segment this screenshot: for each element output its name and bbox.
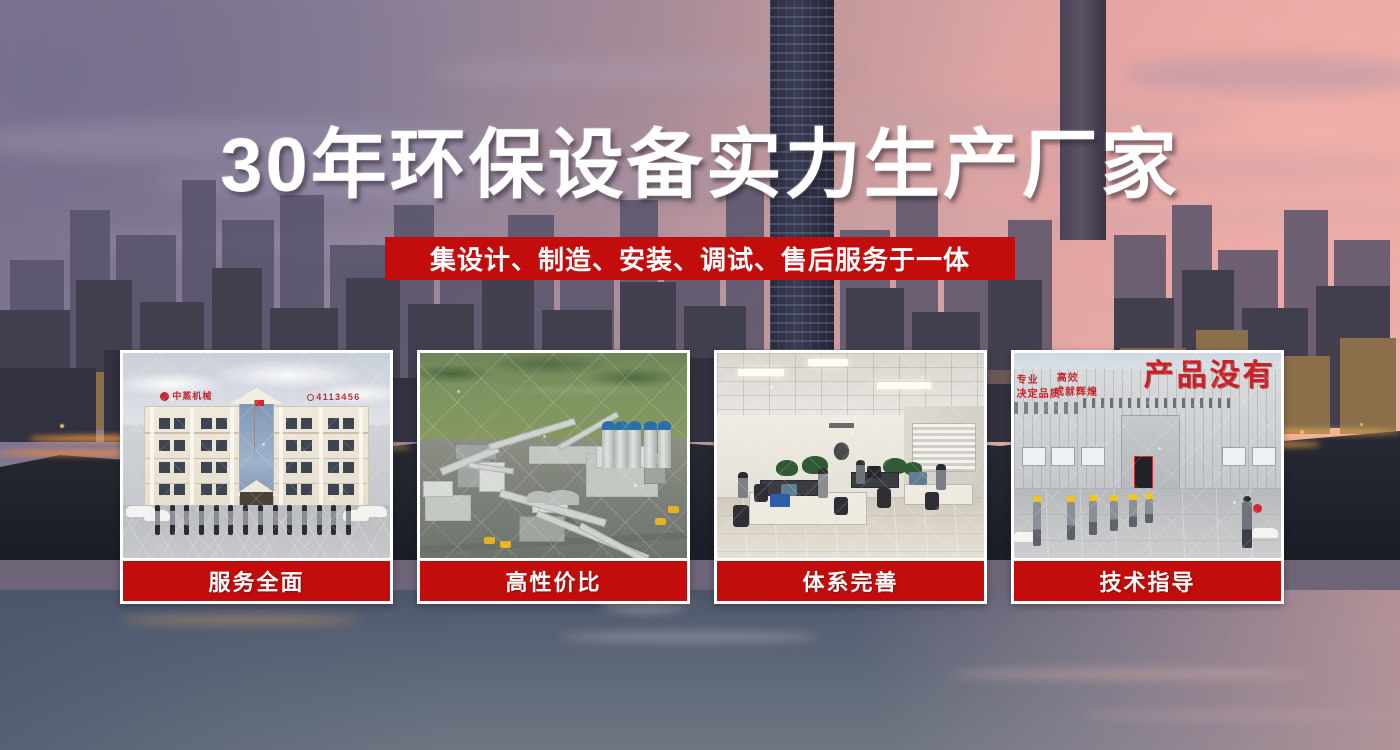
card-caption-text: 服务全面 <box>208 565 304 597</box>
excavator <box>500 541 511 548</box>
wall-slogan-small: 成就辉煌 <box>1054 388 1098 399</box>
excavator <box>655 518 666 525</box>
water-reflection <box>1080 710 1400 720</box>
office-interior-photo <box>717 353 984 558</box>
card-caption-text: 体系完善 <box>802 565 898 597</box>
rooftop-company-sign: 中蒸机械 <box>160 392 212 401</box>
card-caption-text: 技术指导 <box>1099 565 1195 597</box>
wall-slogan-small: 高效 <box>1057 374 1079 385</box>
water-reflection <box>560 632 820 642</box>
card-caption-text: 高性价比 <box>505 565 601 597</box>
card-caption: 服务全面 <box>123 561 390 601</box>
water-reflection <box>950 668 1310 680</box>
wall-slogan-small: 专业 <box>1017 376 1039 387</box>
rooftop-sign-text: 中蒸机械 <box>172 392 212 401</box>
page-title: 30年环保设备实力生产厂家 <box>0 128 1400 204</box>
hero-banner: 30年环保设备实力生产厂家 集设计、制造、安装、调试、售后服务于一体 <box>0 0 1400 750</box>
card-caption: 高性价比 <box>420 561 687 601</box>
feature-card[interactable]: 专业 决定品质 高效 成就辉煌 产品没有 <box>1011 350 1284 604</box>
company-logo-icon <box>160 392 169 401</box>
card-caption: 体系完善 <box>717 561 984 601</box>
feature-card-row: 中蒸机械 4113456 <box>120 350 1284 604</box>
excavator <box>668 506 679 513</box>
water-reflection <box>120 616 360 624</box>
rooftop-phone-text: 4113456 <box>316 393 360 402</box>
workshop-training-photo: 专业 决定品质 高效 成就辉煌 产品没有 <box>1014 353 1281 558</box>
rooftop-phone-sign: 4113456 <box>307 393 360 402</box>
subtitle-banner: 集设计、制造、安装、调试、售后服务于一体 <box>385 237 1015 280</box>
card-caption: 技术指导 <box>1014 561 1281 601</box>
feature-card[interactable]: 高性价比 <box>417 350 690 604</box>
river-water <box>0 590 1400 750</box>
feature-card[interactable]: 体系完善 <box>714 350 987 604</box>
company-headquarters-photo: 中蒸机械 4113456 <box>123 353 390 558</box>
factory-aerial-photo <box>420 353 687 558</box>
feature-card[interactable]: 中蒸机械 4113456 <box>120 350 393 604</box>
wall-slogan-large: 产品没有 <box>1144 361 1276 391</box>
phone-icon <box>307 394 314 401</box>
subtitle-text: 集设计、制造、安装、调试、售后服务于一体 <box>430 240 970 277</box>
supervisor <box>1242 502 1252 548</box>
wall-decal <box>824 431 859 460</box>
excavator <box>484 537 495 544</box>
water-cool-tint <box>0 590 520 750</box>
national-flag-icon <box>255 400 264 406</box>
